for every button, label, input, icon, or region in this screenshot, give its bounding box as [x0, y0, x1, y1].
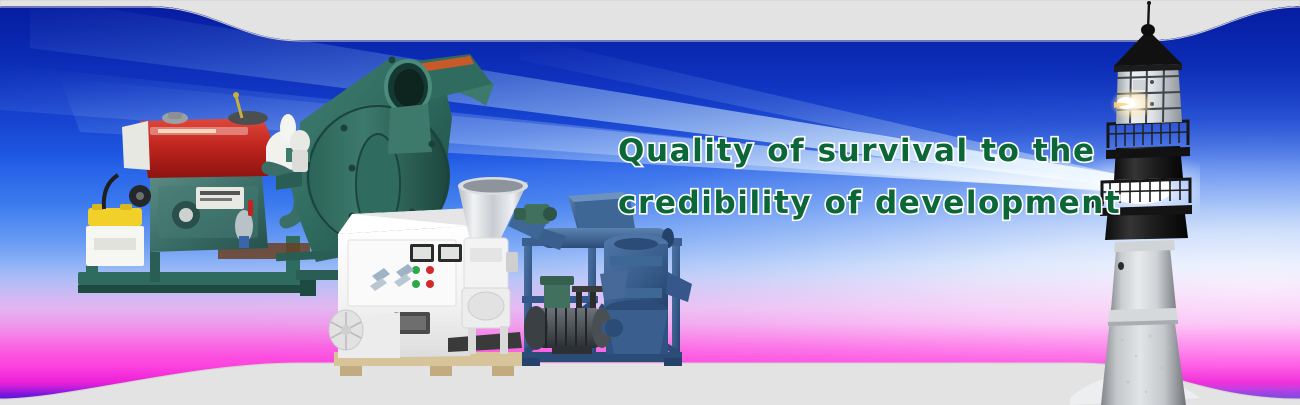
product-machinery-group	[0, 0, 720, 405]
headline-line-2: credibility of development	[618, 178, 1088, 228]
headline-line-1: Quality of survival to the	[618, 126, 1088, 176]
diesel-engine	[78, 92, 310, 293]
headline: Quality of survival to the credibility o…	[618, 126, 1088, 228]
promo-banner: Quality of survival to the credibility o…	[0, 0, 1300, 405]
